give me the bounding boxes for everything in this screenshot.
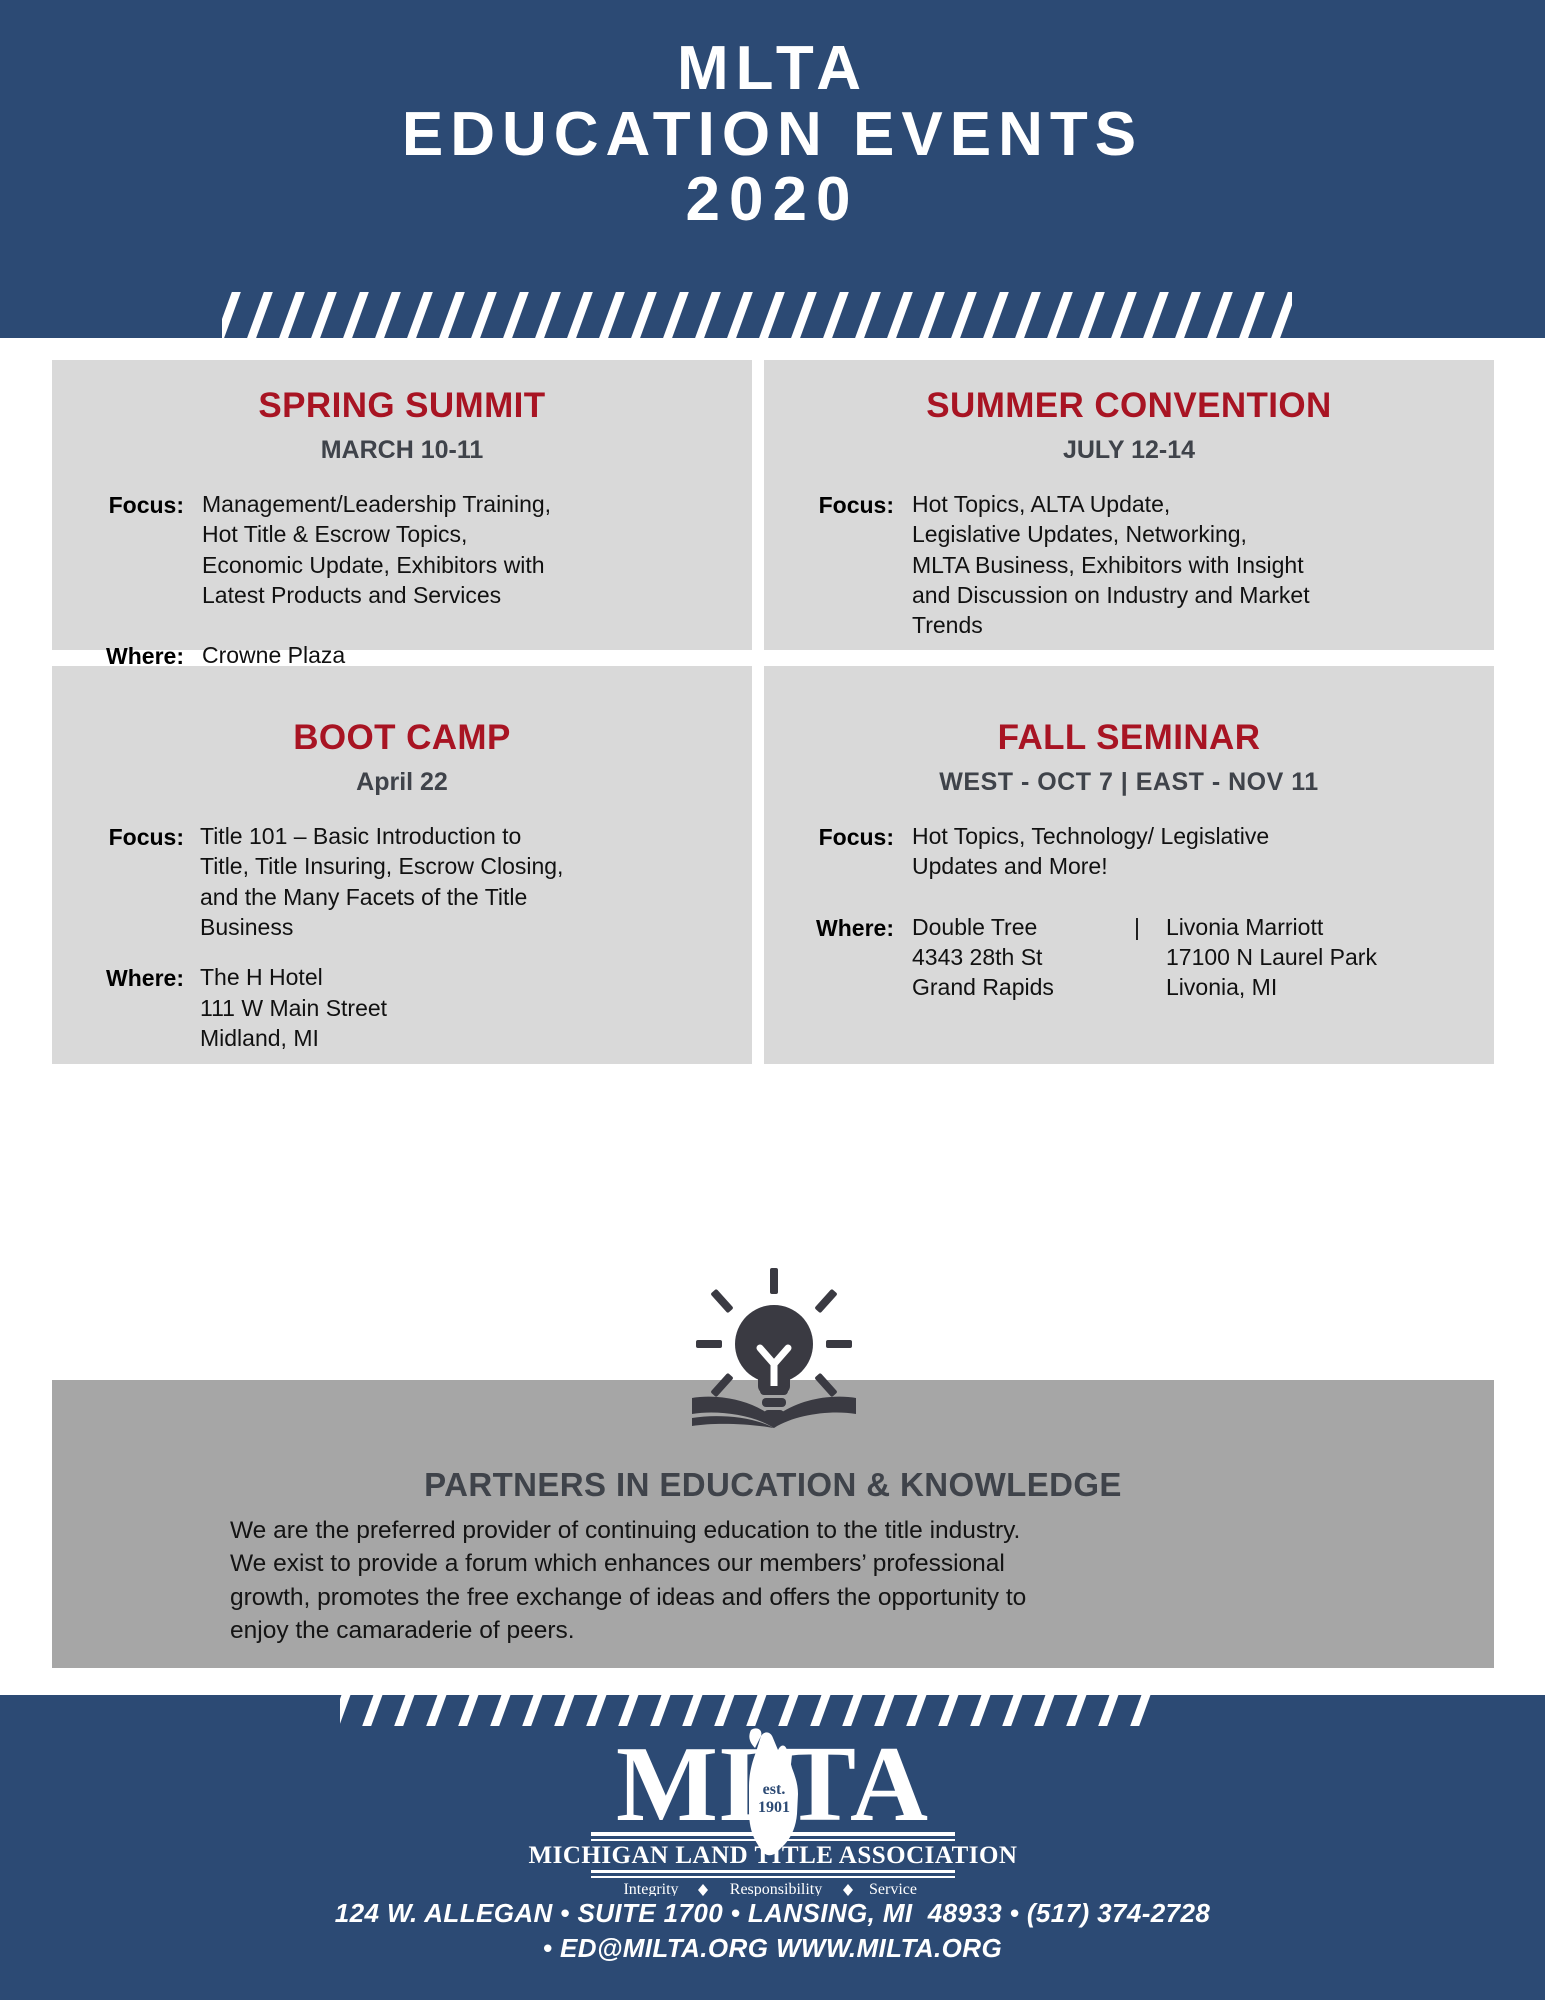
event-where-row: Where: Double Tree 4343 28th St Grand Ra… [786, 912, 1472, 1003]
focus-label: Focus: [74, 489, 184, 610]
logo-rule-top [591, 1832, 955, 1836]
event-card-spring-summit[interactable]: SPRING SUMMIT MARCH 10-11 Focus: Managem… [52, 360, 752, 650]
event-focus-row: Focus: Title 101 – Basic Introduction to… [74, 821, 730, 942]
logo-rule-bottom2 [591, 1876, 955, 1878]
where-label: Where: [786, 912, 894, 1003]
focus-label: Focus: [786, 489, 894, 641]
footer-contact-info: 124 W. ALLEGAN • SUITE 1700 • LANSING, M… [0, 1896, 1545, 1966]
event-title: SUMMER CONVENTION [786, 386, 1472, 426]
footer-address-line: 124 W. ALLEGAN • SUITE 1700 • LANSING, M… [0, 1896, 1545, 1931]
event-focus-row: Focus: Hot Topics, Technology/ Legislati… [786, 821, 1472, 882]
where-column-separator: | [1108, 912, 1166, 1003]
where-value-east: Livonia Marriott 17100 N Laurel Park Liv… [1166, 912, 1472, 1003]
partners-title: PARTNERS IN EDUCATION & KNOWLEDGE [52, 1466, 1494, 1504]
logo-value-service: Service [869, 1881, 917, 1896]
logo-diamond-icon [843, 1884, 853, 1896]
event-card-row-2: BOOT CAMP April 22 Focus: Title 101 – Ba… [52, 666, 1494, 1064]
event-date: MARCH 10-11 [74, 436, 730, 465]
where-label: Where: [74, 962, 184, 1053]
event-focus-row: Focus: Management/Leadership Training, H… [74, 489, 730, 610]
mlta-logo-svg: MLTA est. 1901 MICHIGAN LAND TITLE ASSOC… [493, 1728, 1053, 1896]
logo-org-name: MICHIGAN LAND TITLE ASSOCIATION [528, 1842, 1017, 1869]
footer-email-web-line[interactable]: • ED@MILTA.ORG WWW.MILTA.ORG [0, 1931, 1545, 1966]
title-line-year: 2020 [0, 167, 1545, 233]
event-date: JULY 12-14 [786, 436, 1472, 465]
title-line-subject: EDUCATION EVENTS [0, 102, 1545, 168]
focus-value: Hot Topics, ALTA Update, Legislative Upd… [912, 489, 1472, 641]
lightbulb-book-svg [690, 1268, 858, 1428]
event-title: SPRING SUMMIT [74, 386, 730, 426]
event-date: April 22 [74, 768, 730, 797]
where-value: The H Hotel 111 W Main Street Midland, M… [200, 962, 730, 1053]
logo-rule-top2 [591, 1839, 955, 1841]
focus-value: Hot Topics, Technology/ Legislative Upda… [912, 821, 1472, 882]
event-where-row: Where: The H Hotel 111 W Main Street Mid… [74, 962, 730, 1053]
focus-label: Focus: [786, 821, 894, 882]
event-card-row-1: SPRING SUMMIT MARCH 10-11 Focus: Managem… [52, 360, 1494, 650]
page-title: MLTA EDUCATION EVENTS 2020 [0, 36, 1545, 233]
event-date: WEST - OCT 7 | EAST - NOV 11 [786, 768, 1472, 797]
logo-value-responsibility: Responsibility [729, 1881, 821, 1896]
event-focus-row: Focus: Hot Topics, ALTA Update, Legislat… [786, 489, 1472, 641]
event-title: FALL SEMINAR [786, 718, 1472, 758]
event-cards-grid: SPRING SUMMIT MARCH 10-11 Focus: Managem… [52, 360, 1494, 1080]
title-line-org: MLTA [0, 36, 1545, 102]
logo-rule-bottom [591, 1870, 955, 1873]
event-card-summer-convention[interactable]: SUMMER CONVENTION JULY 12-14 Focus: Hot … [764, 360, 1494, 650]
mlta-logo: MLTA est. 1901 MICHIGAN LAND TITLE ASSOC… [0, 1728, 1545, 1901]
event-card-boot-camp[interactable]: BOOT CAMP April 22 Focus: Title 101 – Ba… [52, 666, 752, 1064]
focus-label: Focus: [74, 821, 184, 942]
logo-value-integrity: Integrity [623, 1881, 678, 1896]
partners-body-text: We are the preferred provider of continu… [52, 1514, 1494, 1647]
focus-value: Management/Leadership Training, Hot Titl… [202, 489, 730, 610]
event-title: BOOT CAMP [74, 718, 730, 758]
logo-est-line1: est. [762, 1781, 785, 1798]
lightbulb-book-icon [690, 1268, 858, 1428]
where-two-columns: Double Tree 4343 28th St Grand Rapids | … [912, 912, 1472, 1003]
logo-est-line2: 1901 [758, 1799, 790, 1816]
focus-value: Title 101 – Basic Introduction to Title,… [200, 821, 730, 942]
logo-diamond-icon [698, 1884, 708, 1896]
event-card-fall-seminar[interactable]: FALL SEMINAR WEST - OCT 7 | EAST - NOV 1… [764, 666, 1494, 1064]
where-value-west: Double Tree 4343 28th St Grand Rapids [912, 912, 1108, 1003]
